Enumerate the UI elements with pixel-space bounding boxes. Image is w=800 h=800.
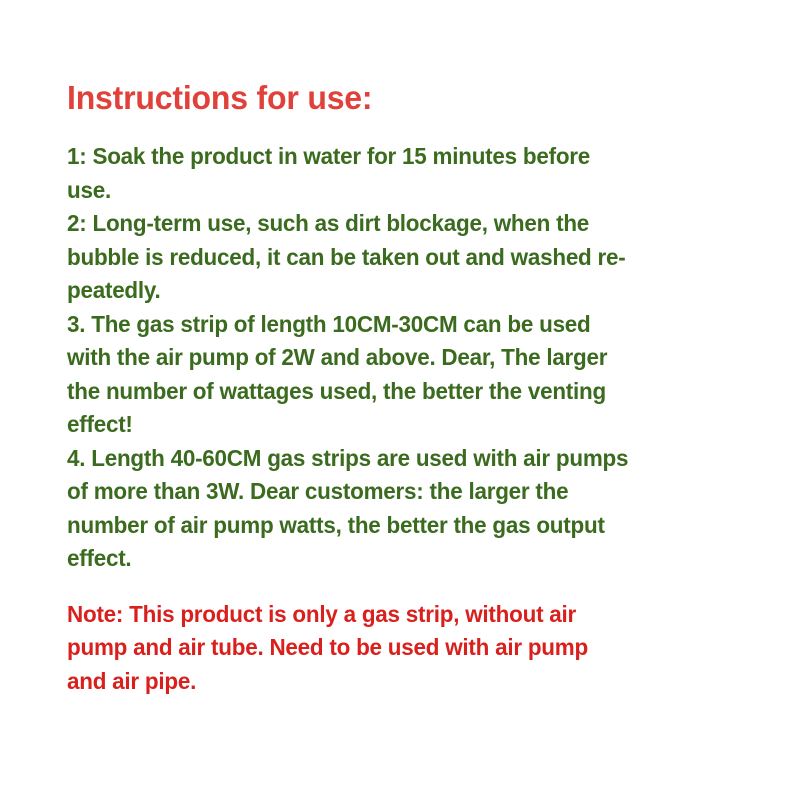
content-wrapper: Instructions for use: 1: Soak the produc… [67, 78, 767, 698]
instruction-line: of more than 3W. Dear customers: the lar… [67, 475, 736, 509]
instruction-line: 3. The gas strip of length 10CM-30CM can… [67, 308, 736, 342]
page-title: Instructions for use: [67, 78, 746, 118]
instruction-line: effect. [67, 542, 736, 576]
note-line: Note: This product is only a gas strip, … [67, 598, 736, 632]
instruction-line: 2: Long-term use, such as dirt blockage,… [67, 207, 736, 241]
instruction-line: 1: Soak the product in water for 15 minu… [67, 140, 736, 174]
instruction-line: the number of wattages used, the better … [67, 375, 736, 409]
note-line: pump and air tube. Need to be used with … [67, 631, 736, 665]
instruction-line: with the air pump of 2W and above. Dear,… [67, 341, 736, 375]
instruction-line: 4. Length 40-60CM gas strips are used wi… [67, 442, 736, 476]
instruction-card: Instructions for use: 1: Soak the produc… [0, 0, 800, 800]
instructions-list: 1: Soak the product in water for 15 minu… [67, 140, 767, 576]
instruction-line: effect! [67, 408, 736, 442]
instruction-line: peatedly. [67, 274, 736, 308]
note-block: Note: This product is only a gas strip, … [67, 598, 767, 699]
instruction-line: number of air pump watts, the better the… [67, 509, 736, 543]
instruction-line: use. [67, 174, 736, 208]
instruction-line: bubble is reduced, it can be taken out a… [67, 241, 736, 275]
note-line: and air pipe. [67, 665, 736, 699]
